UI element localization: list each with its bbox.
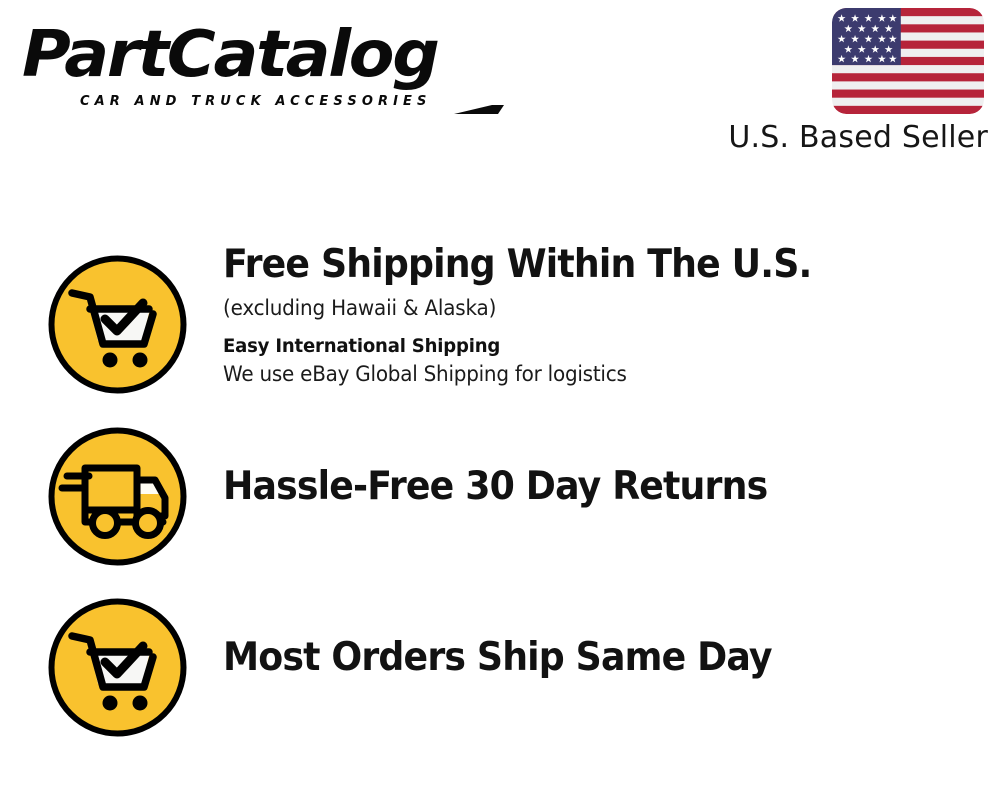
feature-text-block: Hassle-Free 30 Day Returns: [223, 464, 983, 510]
brand-logo[interactable]: PartCatalog CAR AND TRUCK ACCESSORIES: [22, 18, 492, 113]
shopping-cart-check-icon: [45, 595, 190, 740]
feature-sub-title: Easy International Shipping: [223, 332, 945, 360]
us-flag-icon: [832, 8, 984, 114]
brand-wordmark: PartCatalog: [22, 18, 511, 92]
feature-text-block: Free Shipping Within The U.S. (excluding…: [223, 242, 983, 389]
feature-sub-note: We use eBay Global Shipping for logistic…: [223, 360, 945, 389]
feature-title: Free Shipping Within The U.S.: [223, 242, 930, 288]
us-based-seller-badge: U.S. Based Seller: [718, 8, 988, 158]
feature-text-block: Most Orders Ship Same Day: [223, 635, 983, 681]
feature-row: Hassle-Free 30 Day Returns: [0, 422, 1000, 592]
brand-tagline: CAR AND TRUCK ACCESSORIES: [80, 94, 432, 109]
feature-title: Hassle-Free 30 Day Returns: [223, 464, 930, 510]
shopping-cart-check-icon: [45, 252, 190, 397]
feature-row: Most Orders Ship Same Day: [0, 593, 1000, 763]
feature-note: (excluding Hawaii & Alaska): [223, 293, 945, 323]
brand-swoosh-icon: [452, 104, 504, 116]
us-based-seller-label: U.S. Based Seller: [728, 120, 988, 155]
feature-title: Most Orders Ship Same Day: [223, 635, 930, 681]
feature-row: Free Shipping Within The U.S. (excluding…: [0, 250, 1000, 420]
delivery-truck-icon: [45, 424, 190, 569]
page-header: PartCatalog CAR AND TRUCK ACCESSORIES: [0, 0, 1000, 170]
